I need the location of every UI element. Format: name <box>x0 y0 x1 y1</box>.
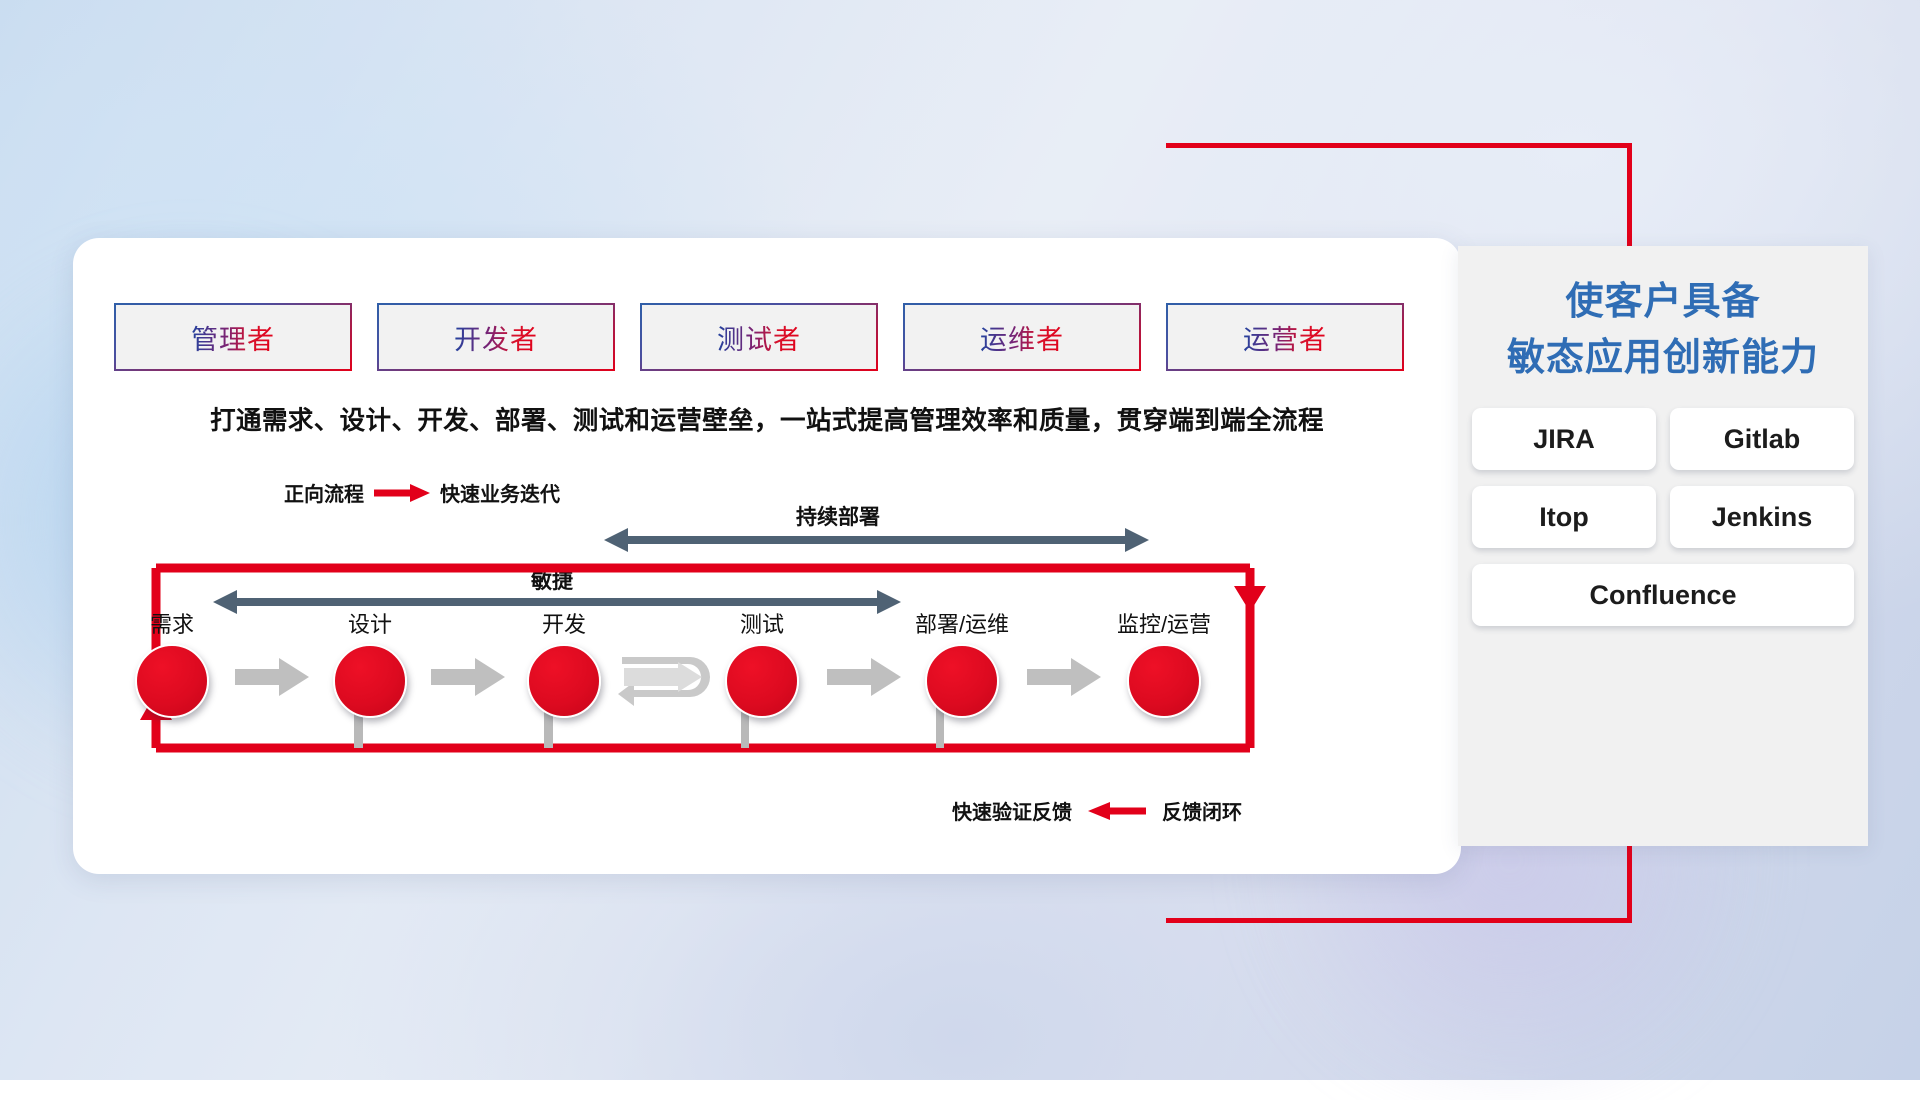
panel-title-line1: 使客户具备 <box>1565 281 1760 323</box>
stage-dot <box>925 644 999 718</box>
arrow-right-icon <box>374 484 430 502</box>
feedback-loop-label: 反馈闭环 <box>1162 796 1242 825</box>
stage-label: 监控/运营 <box>1089 614 1239 636</box>
stage-dot <box>333 644 407 718</box>
stage-label: 开发 <box>489 614 639 636</box>
role-box-row: 管理者 开发者 测试者 运维者 运营者 <box>114 303 1404 371</box>
tool-chip-jira[interactable]: JIRA <box>1472 408 1656 470</box>
role-label: 开发者 <box>454 318 538 357</box>
description-text: 打通需求、设计、开发、部署、测试和运营壁垒，一站式提高管理效率和质量，贯穿端到端… <box>73 400 1461 437</box>
tool-chip-itop[interactable]: Itop <box>1472 486 1656 548</box>
role-label: 运营者 <box>1243 318 1327 357</box>
forward-flow-caption: 正向流程 快速业务迭代 <box>284 478 560 507</box>
stage-monitor-operations[interactable]: 监控/运营 <box>1089 614 1239 718</box>
arrow-left-icon <box>1088 802 1146 820</box>
feedback-caption: 快速验证反馈 反馈闭环 <box>952 796 1242 825</box>
forward-flow-result-label: 快速业务迭代 <box>440 478 560 507</box>
stage-label: 测试 <box>687 614 837 636</box>
tool-chip-jenkins[interactable]: Jenkins <box>1670 486 1854 548</box>
role-box-tester[interactable]: 测试者 <box>640 303 878 371</box>
stage-dot <box>725 644 799 718</box>
tool-chip-gitlab[interactable]: Gitlab <box>1670 408 1854 470</box>
stage-development[interactable]: 开发 <box>489 614 639 718</box>
pipeline-row: 需求 设计 开发 测试 部署/运维 监控/运营 <box>112 614 1412 724</box>
stage-label: 部署/运维 <box>887 614 1037 636</box>
stage-dot <box>135 644 209 718</box>
stage-label: 设计 <box>295 614 445 636</box>
forward-flow-label: 正向流程 <box>284 478 364 507</box>
value-proposition-panel: 使客户具备 敏态应用创新能力 JIRA Gitlab Itop Jenkins … <box>1458 246 1868 846</box>
stage-requirements[interactable]: 需求 <box>97 614 247 718</box>
role-label: 测试者 <box>717 318 801 357</box>
role-box-operations[interactable]: 运营者 <box>1166 303 1404 371</box>
tool-chip-grid: JIRA Gitlab Itop Jenkins Confluence <box>1472 408 1854 626</box>
panel-title-line2: 敏态应用创新能力 <box>1458 330 1868 386</box>
role-label: 运维者 <box>980 318 1064 357</box>
feedback-result-label: 快速验证反馈 <box>952 796 1072 825</box>
role-box-manager[interactable]: 管理者 <box>114 303 352 371</box>
stage-design[interactable]: 设计 <box>295 614 445 718</box>
panel-title: 使客户具备 敏态应用创新能力 <box>1458 246 1868 386</box>
stage-deploy-ops[interactable]: 部署/运维 <box>887 614 1037 718</box>
tool-chip-confluence[interactable]: Confluence <box>1472 564 1854 626</box>
stage-dot <box>1127 644 1201 718</box>
role-label: 管理者 <box>191 318 275 357</box>
stage-dot <box>527 644 601 718</box>
stage-label: 需求 <box>97 614 247 636</box>
role-box-developer[interactable]: 开发者 <box>377 303 615 371</box>
stage-testing[interactable]: 测试 <box>687 614 837 718</box>
role-box-ops[interactable]: 运维者 <box>903 303 1141 371</box>
